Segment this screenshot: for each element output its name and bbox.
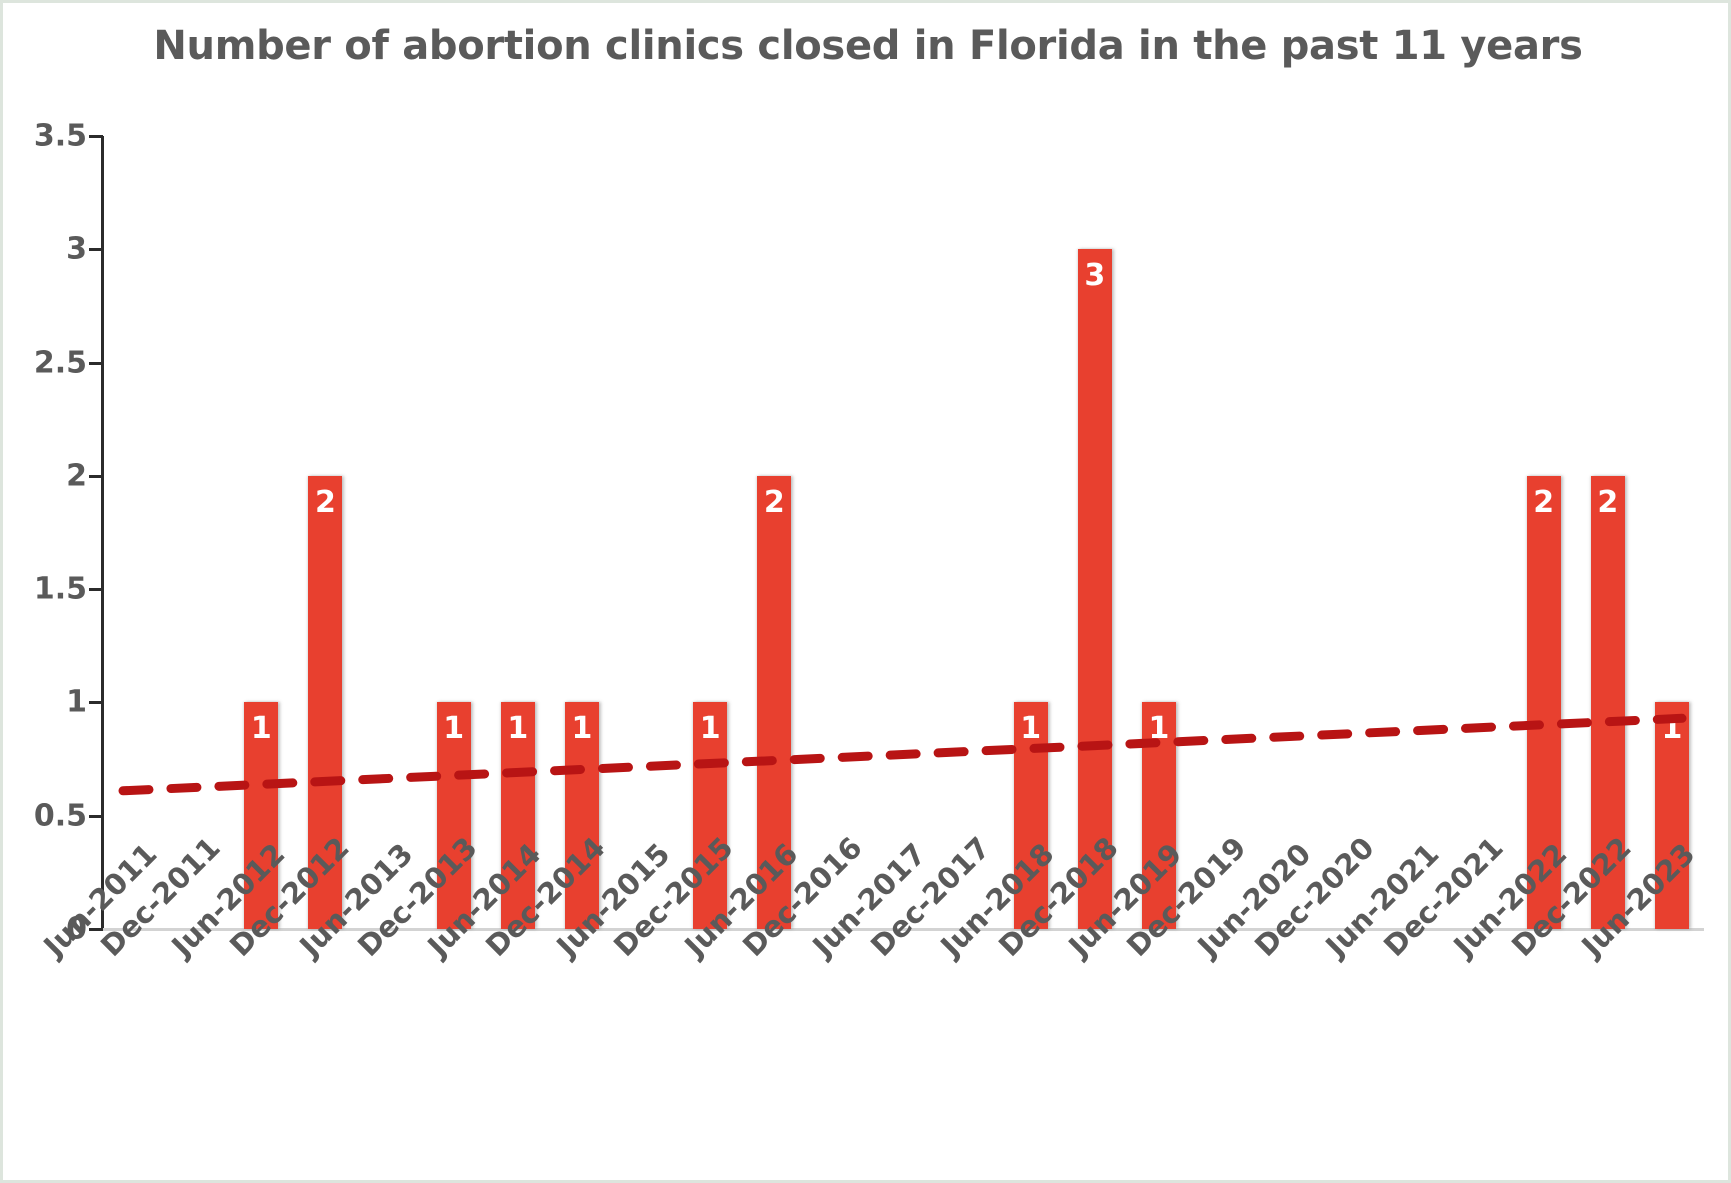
y-axis-tick-mark bbox=[89, 588, 103, 591]
y-axis-tick-mark bbox=[89, 362, 103, 365]
y-axis-tick-mark bbox=[89, 248, 103, 251]
y-axis-tick-mark bbox=[89, 475, 103, 478]
y-axis-tick-mark bbox=[89, 928, 103, 931]
y-axis-tick-mark bbox=[89, 135, 103, 138]
y-axis-tick-mark bbox=[89, 701, 103, 704]
x-axis: Jun-2011Dec-2011Jun-2012Dec-2012Jun-2013… bbox=[3, 3, 1731, 1183]
chart-container: Number of abortion clinics closed in Flo… bbox=[0, 0, 1731, 1183]
y-axis-tick-mark bbox=[89, 815, 103, 818]
